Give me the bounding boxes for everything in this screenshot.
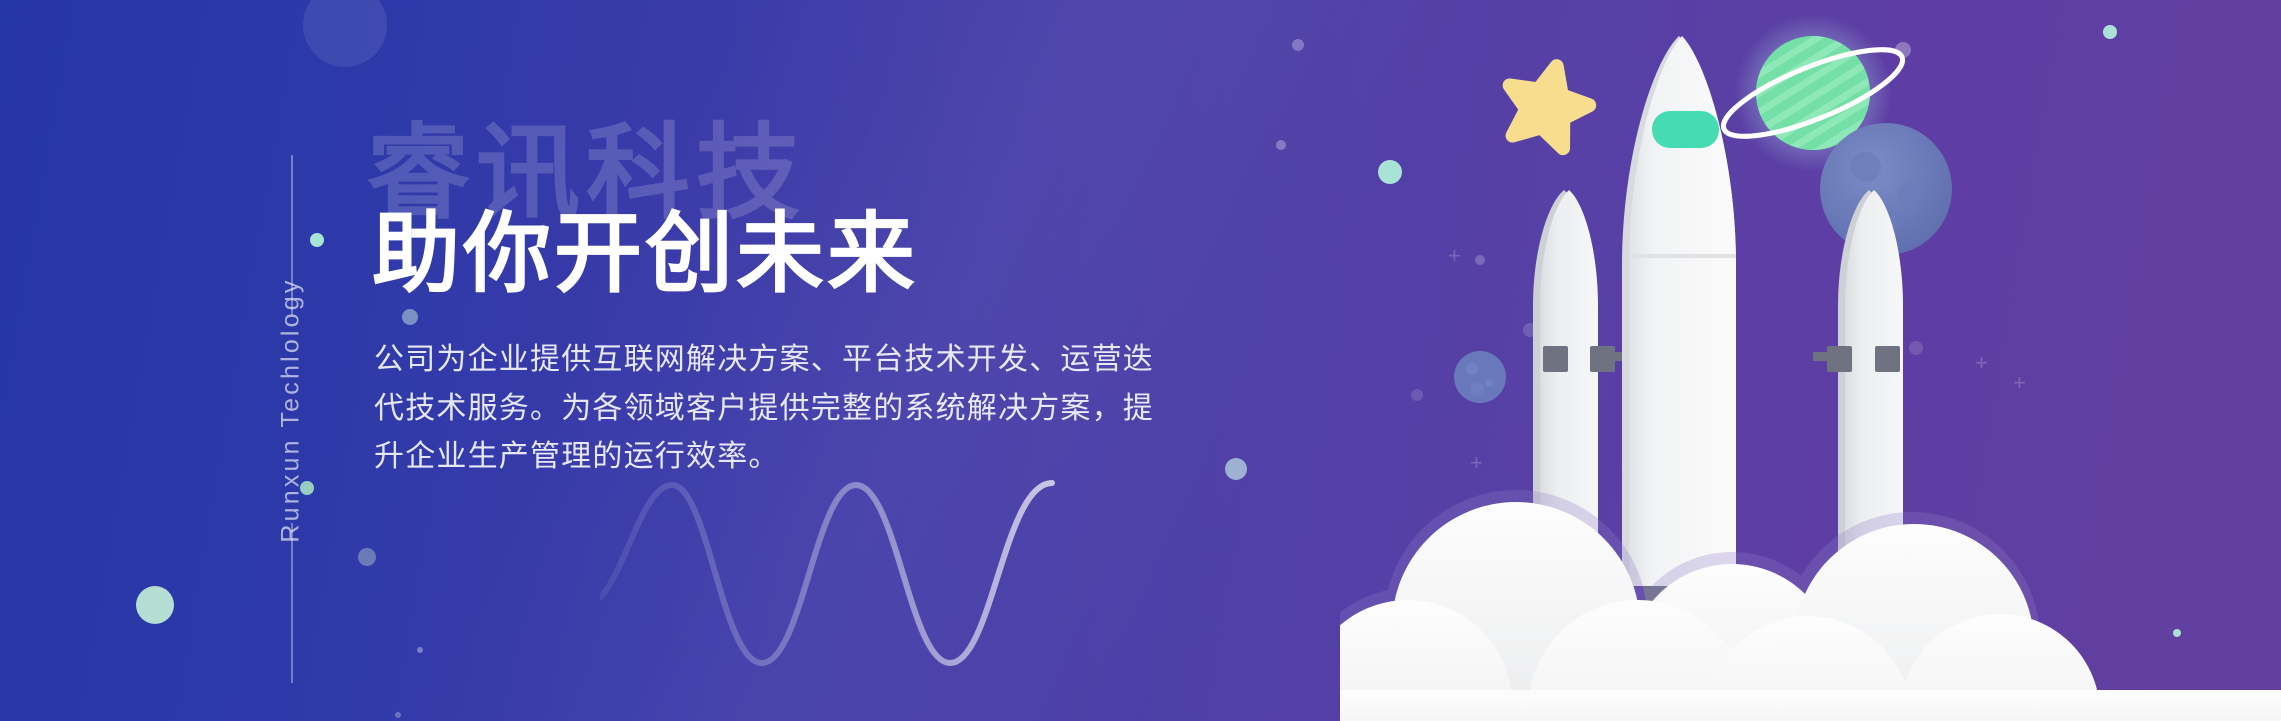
rocket-icon xyxy=(1622,36,1736,619)
decorative-dot xyxy=(310,233,324,247)
page-title: 助你开创未来 xyxy=(372,210,918,298)
rocket-window xyxy=(1652,111,1719,148)
strut-left xyxy=(1593,352,1623,361)
decorative-dot xyxy=(358,548,376,566)
decorative-dot xyxy=(1276,140,1286,150)
small-moon-icon xyxy=(1454,351,1506,403)
decorative-dot xyxy=(1292,39,1304,51)
decorative-dot xyxy=(136,586,174,624)
brand-vertical-text: Runxun Techlology xyxy=(277,277,306,542)
exhaust-clouds xyxy=(1340,490,2281,721)
star-icon xyxy=(1498,56,1596,152)
decorative-dot xyxy=(402,309,418,325)
rocket-scene xyxy=(1340,0,2281,721)
hero-banner: ++++ Runxun Techlology 睿讯科技 助你开创未来 公司为企业… xyxy=(0,0,2281,721)
sine-wave xyxy=(600,455,1260,705)
decorative-dot xyxy=(303,0,387,67)
decorative-dot xyxy=(417,647,423,653)
strut-right xyxy=(1813,352,1843,361)
vertical-divider-bottom xyxy=(291,523,293,683)
decorative-dot xyxy=(395,712,401,718)
